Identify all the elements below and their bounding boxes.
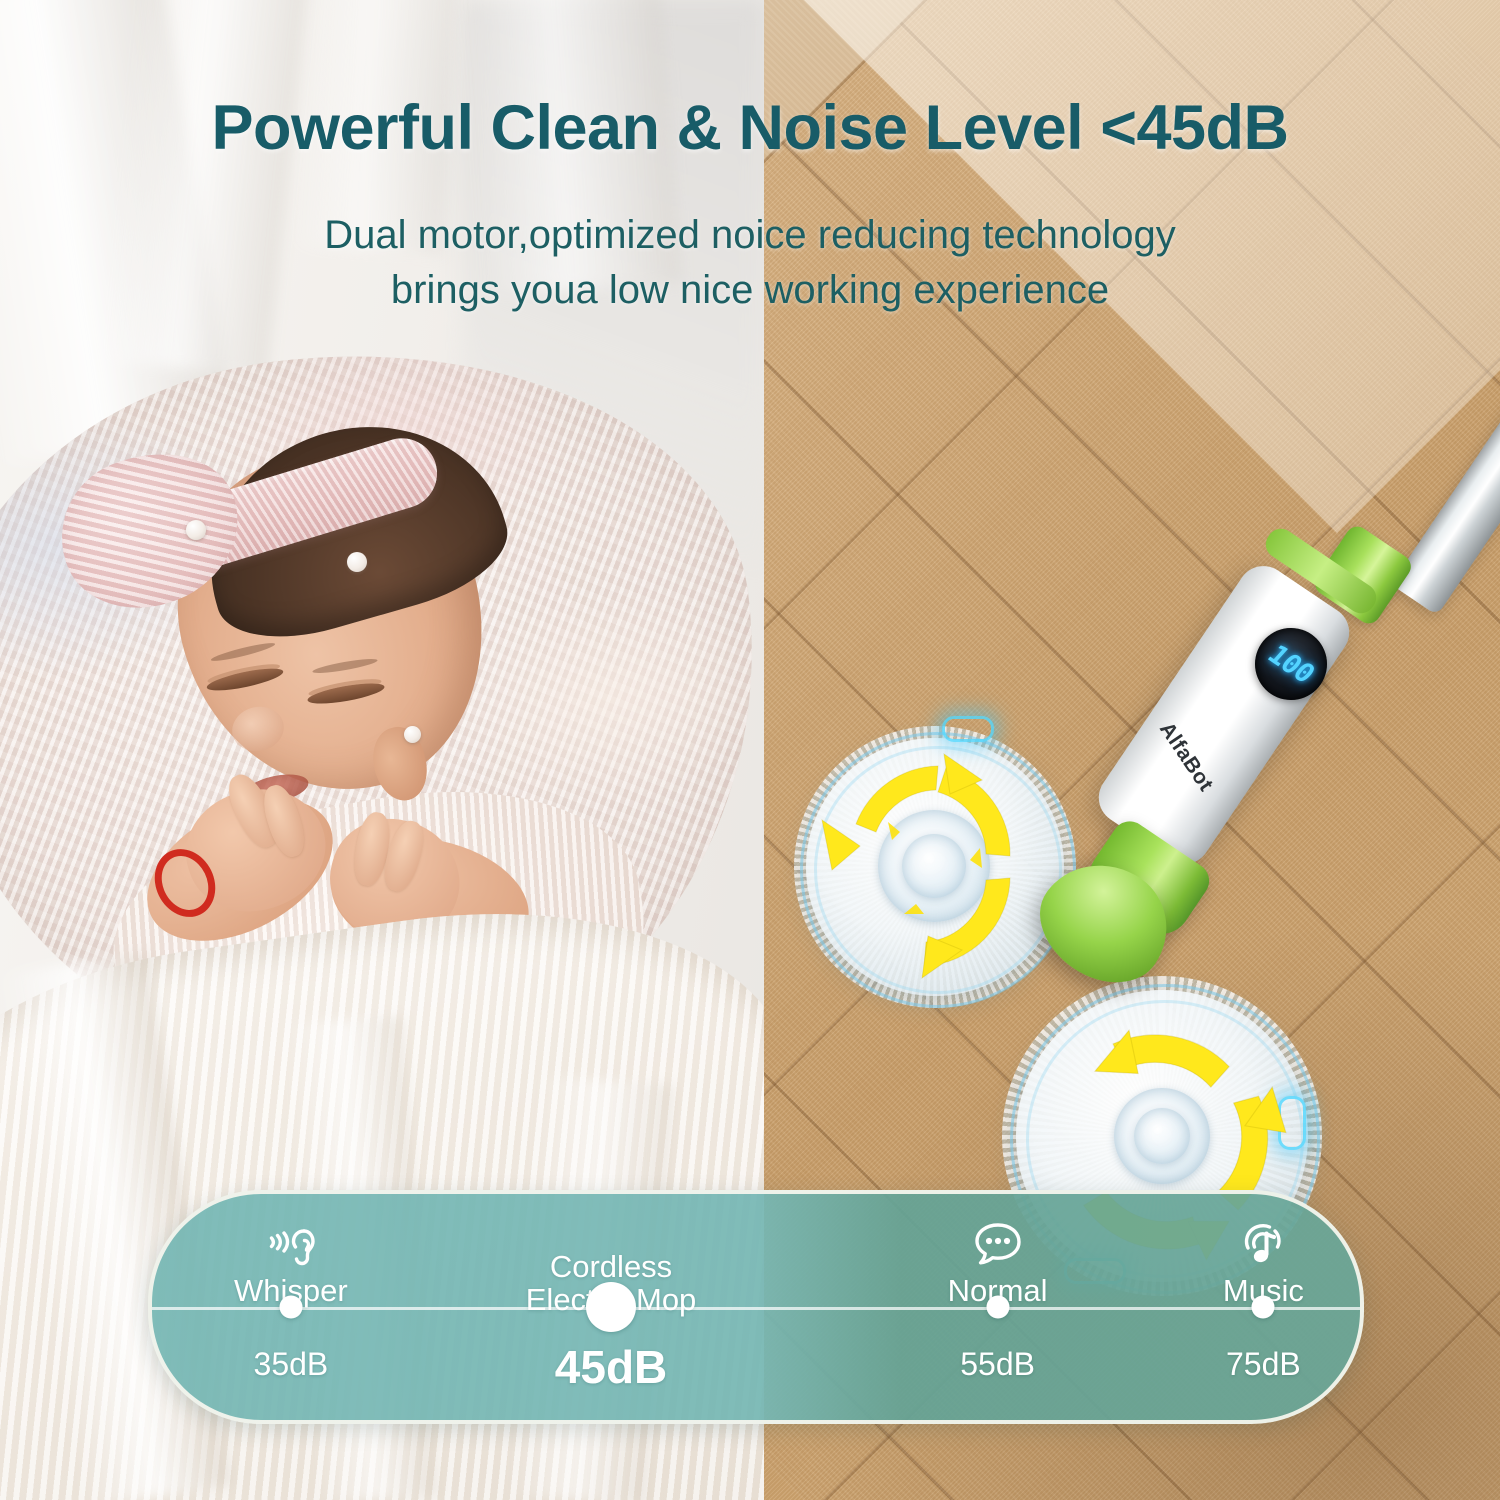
- scale-stop-whisper[interactable]: Whisper 35dB: [171, 1194, 411, 1420]
- page-title: Powerful Clean & Noise Level <45dB: [0, 92, 1500, 164]
- scale-stop-music[interactable]: Music 75dB: [1143, 1194, 1364, 1420]
- chat-dots-icon: [970, 1216, 1026, 1272]
- pearl-bead: [347, 552, 367, 572]
- scale-value: 35dB: [171, 1346, 411, 1383]
- scale-stop-normal[interactable]: Normal 55dB: [878, 1194, 1118, 1420]
- pearl-bead: [186, 520, 206, 540]
- music-note-icon: [1235, 1216, 1291, 1272]
- scale-dot[interactable]: [986, 1296, 1009, 1319]
- subtitle-line-1: Dual motor,optimized noice reducing tech…: [0, 208, 1500, 263]
- noise-level-scale: Whisper 35dB Cordless Electric Mop 45dB: [148, 1190, 1364, 1424]
- scale-value: 55dB: [878, 1346, 1118, 1383]
- scale-dot[interactable]: [1252, 1296, 1275, 1319]
- scale-dot[interactable]: [279, 1296, 302, 1319]
- scale-stop-cordless-electric-mop[interactable]: Cordless Electric Mop 45dB: [491, 1194, 731, 1420]
- page-subtitle: Dual motor,optimized noice reducing tech…: [0, 208, 1500, 318]
- scale-dot-active[interactable]: [586, 1282, 636, 1332]
- scale-inner: Whisper 35dB Cordless Electric Mop 45dB: [152, 1194, 1360, 1420]
- ear-sound-icon: [263, 1216, 319, 1272]
- scale-value: 75dB: [1143, 1346, 1364, 1383]
- subtitle-line-2: brings youa low nice working experience: [0, 263, 1500, 318]
- product-feature-image: 100 AlfaBot Powerful Clean & Noise Level…: [0, 0, 1500, 1500]
- scale-value-active: 45dB: [491, 1340, 731, 1394]
- sheet-fold: [98, 0, 312, 378]
- pearl-bead: [404, 726, 421, 743]
